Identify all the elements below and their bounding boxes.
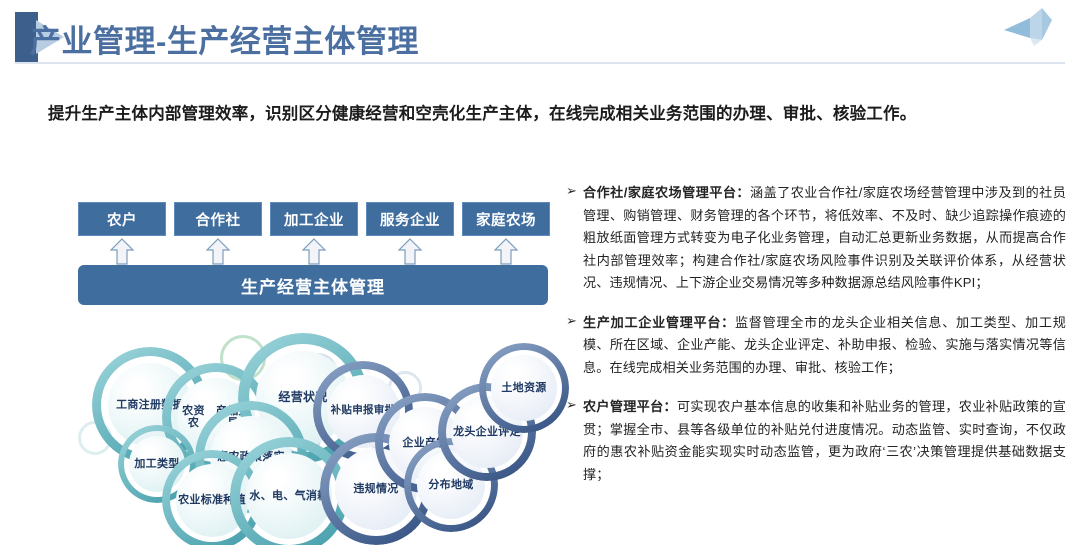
arrow-row — [78, 238, 548, 266]
paragraph-lead: 农户管理平台： — [583, 399, 677, 414]
entity-box-row: 农户 合作社 加工企业 服务企业 家庭农场 — [78, 202, 548, 236]
origami-triangles-icon — [1000, 6, 1060, 46]
bubble-cluster: 工商注册数据农资农产品交易经营状况加工类型惠农政策落实农业标准种植水、电、气消耗… — [70, 325, 560, 540]
entity-box-farmer[interactable]: 农户 — [78, 202, 166, 236]
bullet-arrow-icon: ➢ — [566, 397, 577, 414]
diagram-base-label: 生产经营主体管理 — [78, 265, 548, 305]
paragraph-body: 生产加工企业管理平台：监督管理全市的龙头企业相关信息、加工类型、加工规模、所在区… — [583, 312, 1066, 380]
up-arrow-icon — [110, 238, 134, 265]
bullet-arrow-icon: ➢ — [566, 313, 577, 330]
paragraph-text: 涵盖了农业合作社/家庭农场经营管理中涉及到的社员管理、购销管理、财务管理的各个环… — [583, 185, 1066, 290]
description-column: ➢合作社/家庭农场管理平台：涵盖了农业合作社/家庭农场经营管理中涉及到的社员管理… — [566, 182, 1066, 503]
entity-box-family-farm[interactable]: 家庭农场 — [462, 202, 550, 236]
up-arrow-icon — [302, 238, 326, 265]
header-divider — [15, 62, 1065, 64]
entity-box-service[interactable]: 服务企业 — [366, 202, 454, 236]
paragraph-lead: 生产加工企业管理平台： — [583, 315, 735, 330]
description-paragraph: ➢生产加工企业管理平台：监督管理全市的龙头企业相关信息、加工类型、加工规模、所在… — [566, 312, 1066, 380]
bubble-label: 水、电、气消耗 — [246, 453, 332, 539]
bubble-item[interactable]: 土地资源 — [479, 343, 569, 433]
description-paragraph: ➢合作社/家庭农场管理平台：涵盖了农业合作社/家庭农场经营管理中涉及到的社员管理… — [566, 182, 1066, 295]
bubble-label: 土地资源 — [491, 355, 557, 421]
paragraph-lead: 合作社/家庭农场管理平台： — [583, 185, 750, 200]
page-title: 产业管理-生产经营主体管理 — [30, 16, 419, 61]
paragraph-body: 农户管理平台：可实现农户基本信息的收集和补贴业务的管理，农业补贴政策的宣贯；掌握… — [583, 396, 1066, 486]
entity-box-processing[interactable]: 加工企业 — [270, 202, 358, 236]
up-arrow-icon — [398, 238, 422, 265]
bullet-arrow-icon: ➢ — [566, 183, 577, 200]
slide-subtitle: 提升生产主体内部管理效率，识别区分健康经营和空壳化生产主体，在线完成相关业务范围… — [48, 100, 1058, 124]
entity-box-cooperative[interactable]: 合作社 — [174, 202, 262, 236]
up-arrow-icon — [494, 238, 518, 265]
slide-root: 产业管理-生产经营主体管理 提升生产主体内部管理效率，识别区分健康经营和空壳化生… — [0, 0, 1080, 545]
description-paragraph: ➢农户管理平台：可实现农户基本信息的收集和补贴业务的管理，农业补贴政策的宣贯；掌… — [566, 396, 1066, 486]
paragraph-body: 合作社/家庭农场管理平台：涵盖了农业合作社/家庭农场经营管理中涉及到的社员管理、… — [583, 182, 1066, 295]
slide-header: 产业管理-生产经营主体管理 — [0, 0, 1080, 72]
up-arrow-icon — [206, 238, 230, 265]
